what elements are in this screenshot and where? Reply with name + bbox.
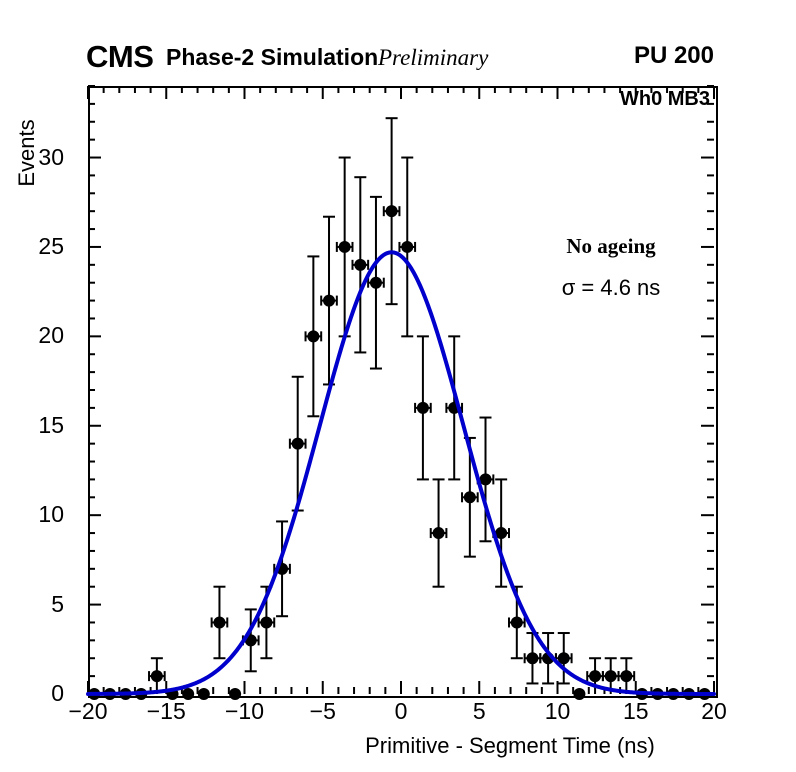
data-point-marker xyxy=(620,670,632,682)
x-tick-label: 15 xyxy=(623,698,649,725)
data-point-marker xyxy=(323,295,335,307)
data-point-marker xyxy=(464,491,476,503)
data-point-marker xyxy=(605,670,617,682)
data-point-marker xyxy=(401,241,413,253)
x-tick-label: −5 xyxy=(310,698,336,725)
x-tick-label: 20 xyxy=(701,698,727,725)
y-axis-title: Events xyxy=(14,93,40,213)
data-point-marker xyxy=(433,527,445,539)
data-point-marker xyxy=(511,616,523,628)
x-tick-label: −20 xyxy=(68,698,107,725)
x-tick-label: 0 xyxy=(395,698,408,725)
data-point-marker xyxy=(198,688,210,700)
data-point-marker xyxy=(589,670,601,682)
data-point-marker xyxy=(260,616,272,628)
x-tick-label: −10 xyxy=(225,698,264,725)
data-point-marker xyxy=(573,688,585,700)
data-point-marker xyxy=(213,616,225,628)
plot-canvas: CMS Phase-2 Simulation Preliminary PU 20… xyxy=(0,0,796,772)
data-point-marker xyxy=(339,241,351,253)
data-point-marker xyxy=(151,670,163,682)
data-point-marker xyxy=(526,652,538,664)
x-tick-label: 5 xyxy=(473,698,486,725)
x-tick-label: −15 xyxy=(147,698,186,725)
data-point-marker xyxy=(307,330,319,342)
data-point-marker xyxy=(370,277,382,289)
x-axis-title: Primitive - Segment Time (ns) xyxy=(300,733,720,759)
ageing-annotation: No ageing xyxy=(500,234,722,259)
gaussian-fit-curve xyxy=(88,252,714,694)
data-point-marker xyxy=(292,438,304,450)
x-tick-label: 10 xyxy=(545,698,571,725)
data-point-marker xyxy=(354,259,366,271)
sigma-annotation: σ = 4.6 ns xyxy=(500,275,722,301)
chart-graphics xyxy=(0,0,796,772)
data-point-marker xyxy=(386,205,398,217)
data-point-marker xyxy=(417,402,429,414)
